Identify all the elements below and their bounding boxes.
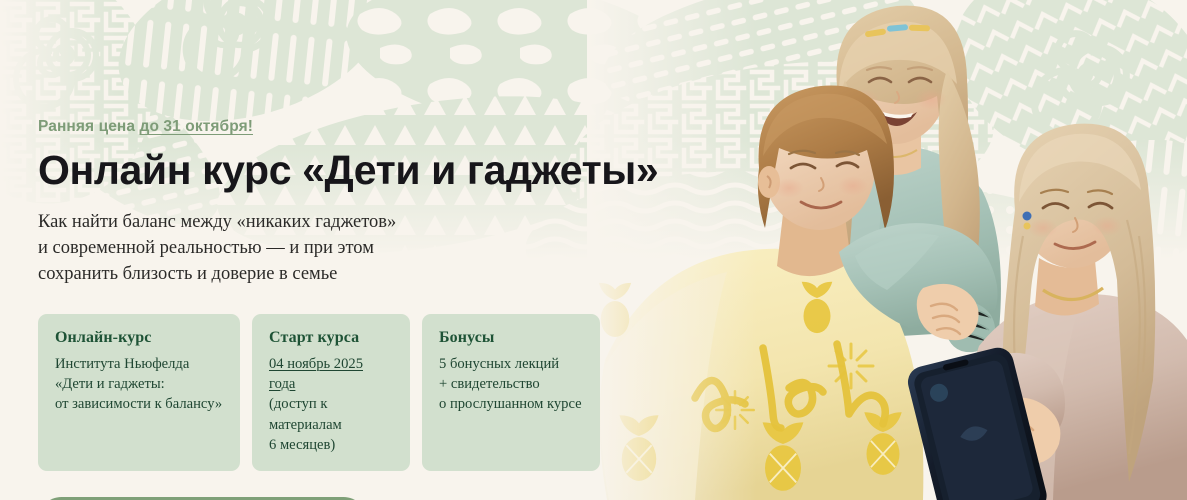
info-card-line: «Дети и гаджеты: <box>55 374 223 394</box>
hero-banner: Ранняя цена до 31 октября! Онлайн курс «… <box>0 0 1187 500</box>
hands-holding-phone <box>985 397 1060 464</box>
early-price-prefix: Ранняя цена <box>38 118 140 135</box>
page-subtitle: Как найти баланс между «никаких гаджетов… <box>38 210 458 288</box>
earring <box>1023 212 1032 221</box>
info-card-bonuses: Бонусы 5 бонусных лекций + свидетельство… <box>422 314 600 471</box>
hand-resting <box>917 284 979 340</box>
subject-boy-aloha-shirt <box>599 86 998 500</box>
early-price-eyebrow: Ранняя цена до 31 октября! <box>38 118 638 136</box>
hero-content: Ранняя цена до 31 октября! Онлайн курс «… <box>38 118 638 500</box>
info-card-line: + свидетельство <box>439 374 583 394</box>
info-card-start-date: Старт курса 04 ноябрь 2025 года (доступ … <box>252 314 410 471</box>
info-card-line: о прослушанном курсе <box>439 394 583 414</box>
info-card-line: от зависимости к балансу» <box>55 394 223 414</box>
subtitle-line-3: сохранить близость и доверие в семье <box>38 264 337 284</box>
children-photo <box>587 0 1187 500</box>
info-card-course: Онлайн-курс Института Ньюфелда «Дети и г… <box>38 314 240 471</box>
sunburst-print <box>716 344 873 429</box>
course-start-date: 04 ноябрь 2025 года <box>269 354 393 394</box>
page-title: Онлайн курс «Дети и гаджеты» <box>38 149 638 192</box>
subtitle-line-1: Как найти баланс между «никаких гаджетов… <box>38 212 396 232</box>
info-card-line: Института Ньюфелда <box>55 354 223 374</box>
aloha-script <box>695 344 885 429</box>
info-card-title: Онлайн-курс <box>55 329 223 347</box>
info-card-line: 5 бонусных лекций <box>439 354 583 374</box>
early-price-deadline: до 31 октября! <box>140 118 253 135</box>
pineapple-print <box>599 282 902 491</box>
info-card-title: Старт курса <box>269 329 393 347</box>
info-card-line: 6 месяцев) <box>269 435 393 455</box>
smartphone-device <box>905 344 1050 500</box>
hair-clip-gold-2 <box>909 25 930 32</box>
info-card-line: (доступ к материалам <box>269 394 393 434</box>
info-cards: Онлайн-курс Института Ньюфелда «Дети и г… <box>38 314 638 471</box>
face-sticker-butterfly <box>846 95 872 121</box>
subject-girl-blonde-back <box>801 6 1001 340</box>
hair-clip-gold <box>865 28 887 37</box>
info-card-title: Бонусы <box>439 329 583 347</box>
hair-clip-blue <box>887 24 908 32</box>
necklace <box>1043 288 1103 300</box>
subtitle-line-2: и современной реальностью — и при этом <box>38 238 374 258</box>
subject-girl-with-phone <box>962 124 1187 500</box>
